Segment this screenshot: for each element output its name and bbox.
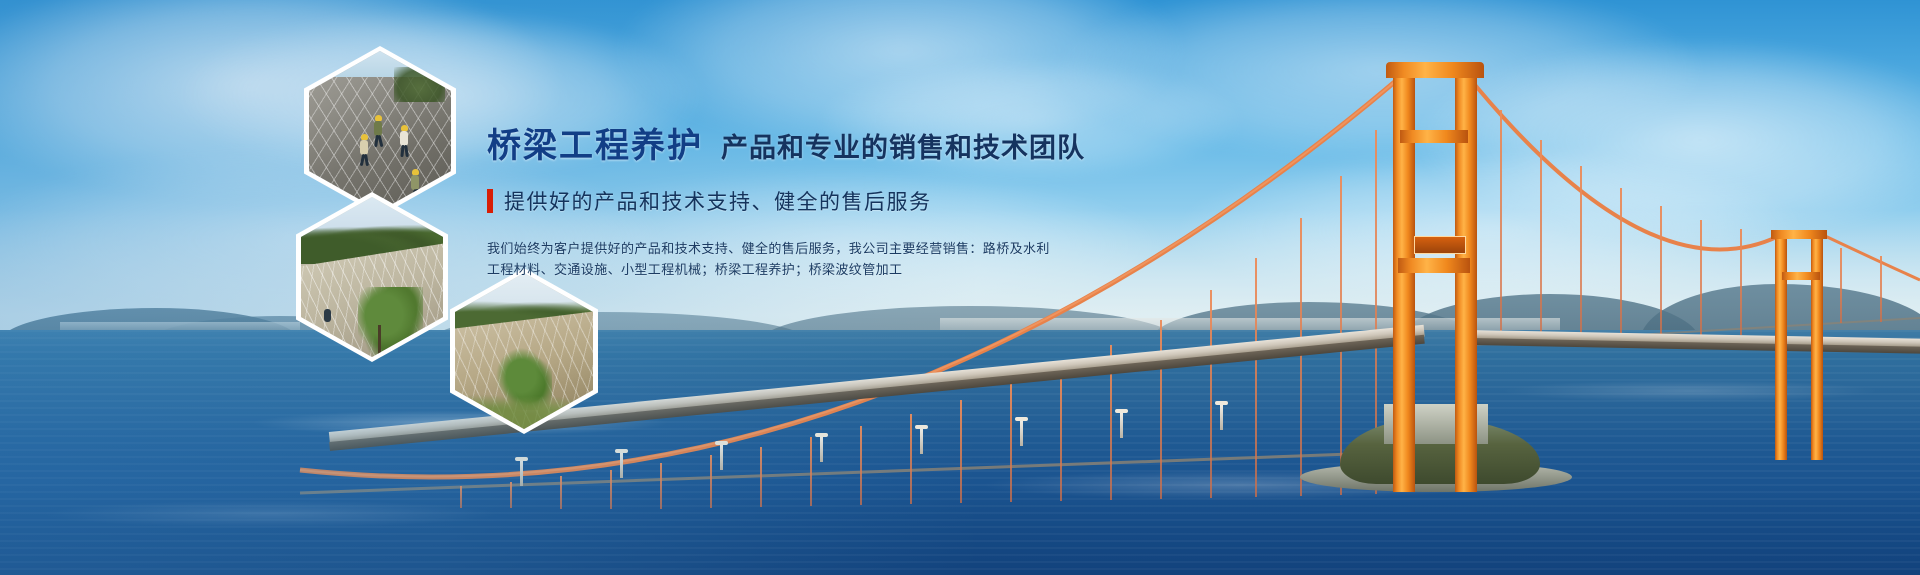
body-line-1: 我们始终为客户提供好的产品和技术支持、健全的售后服务，我公司主要经营销售：路桥及…: [487, 238, 1127, 259]
bridge-tower-crossbeam: [1398, 258, 1470, 273]
bridge-tower-far: [1811, 230, 1823, 460]
worker-figure: [324, 309, 331, 322]
hillside-mesh-slope-photo: [301, 197, 443, 357]
bridge-tower-sign: [1414, 236, 1466, 254]
bridge-tower-crossbeam: [1782, 272, 1820, 280]
street-lamp: [1220, 404, 1223, 430]
subheadline-row: 提供好的产品和技术支持、健全的售后服务: [487, 186, 1127, 216]
bridge-tower-far: [1775, 230, 1787, 460]
bridge-tower-main: [1455, 62, 1477, 492]
subheadline-text: 提供好的产品和技术支持、健全的售后服务: [504, 186, 932, 216]
rock-slope-mesh-installation-photo: [309, 51, 451, 211]
bridge-tower-cap: [1386, 62, 1484, 78]
body-line-2: 工程材料、交通设施、小型工程机械；桥梁工程养护；桥梁波纹管加工: [487, 259, 1127, 280]
street-lamp: [920, 428, 923, 454]
street-lamp: [520, 460, 523, 486]
street-lamp: [720, 444, 723, 470]
bridge-tower-cap: [1771, 230, 1827, 239]
street-lamp: [820, 436, 823, 462]
bridge-tower-main: [1393, 62, 1415, 492]
headline-row: 桥梁工程养护 产品和专业的销售和技术团队: [487, 118, 1127, 167]
earth-slope-mesh-photo: [455, 273, 593, 429]
accent-bar-icon: [487, 189, 493, 213]
bridge-tower-crossbeam: [1400, 130, 1468, 143]
body-copy: 我们始终为客户提供好的产品和技术支持、健全的售后服务，我公司主要经营销售：路桥及…: [487, 238, 1127, 280]
street-lamp: [1020, 420, 1023, 446]
headline-secondary: 产品和专业的销售和技术团队: [721, 126, 1085, 165]
street-lamp: [1120, 412, 1123, 438]
banner-text-block: 桥梁工程养护 产品和专业的销售和技术团队 提供好的产品和技术支持、健全的售后服务…: [487, 118, 1127, 280]
headline-primary: 桥梁工程养护: [487, 118, 703, 167]
cable-hangers: [0, 0, 1920, 575]
hero-banner: 桥梁工程养护 产品和专业的销售和技术团队 提供好的产品和技术支持、健全的售后服务…: [0, 0, 1920, 575]
suspension-bridge: [0, 0, 1920, 575]
street-lamp: [620, 452, 623, 478]
